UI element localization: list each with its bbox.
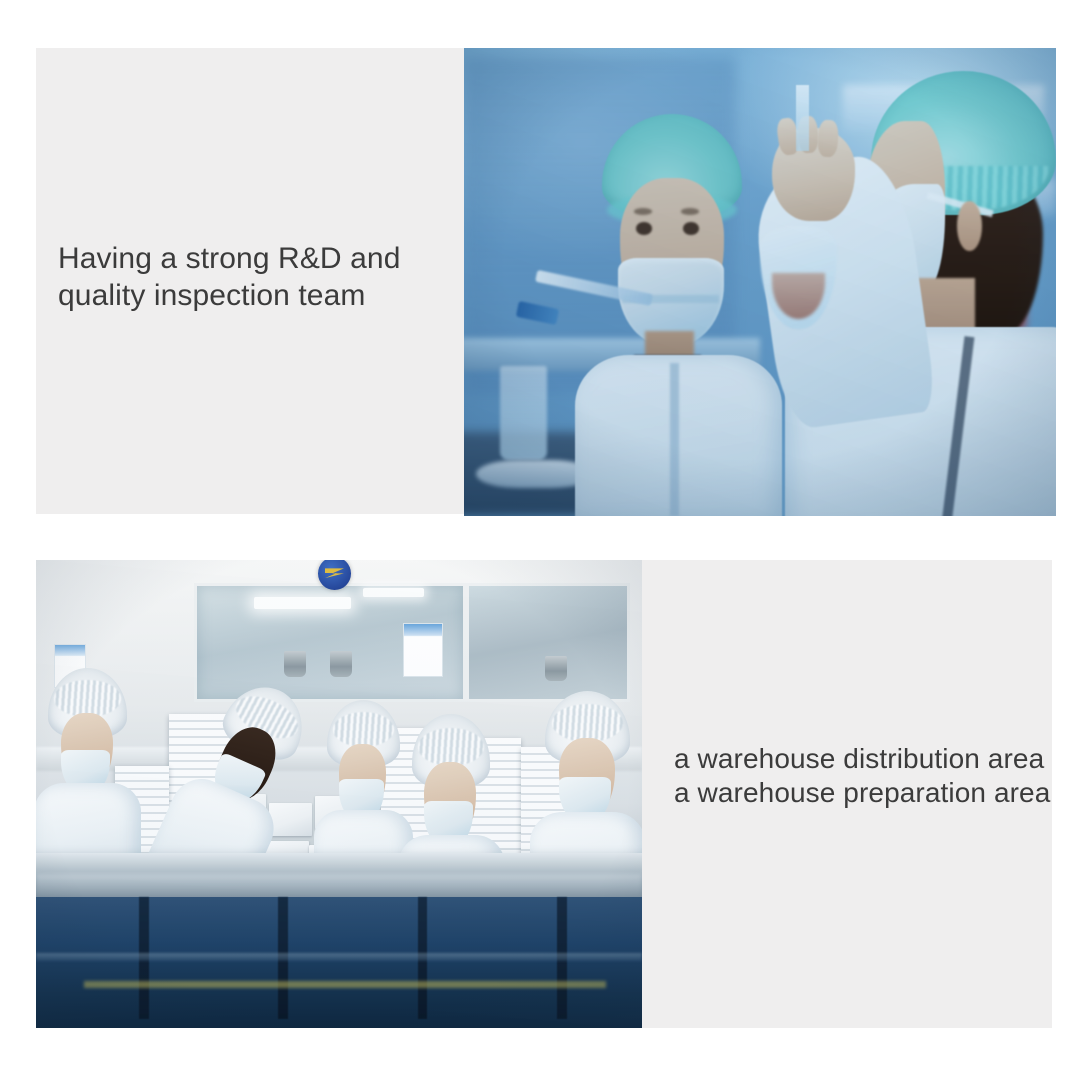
warehouse-packing-photo xyxy=(36,560,642,1028)
packing-scene xyxy=(36,560,642,1028)
top-caption-panel: Having a strong R&D and quality inspecti… xyxy=(36,48,464,514)
quality-inspection-photo xyxy=(464,48,1056,516)
top-caption-text: Having a strong R&D and quality inspecti… xyxy=(58,240,458,314)
bottom-caption-panel: a warehouse distribution area a warehous… xyxy=(642,560,1052,1028)
lab-vignette xyxy=(464,48,1056,516)
lab-scene xyxy=(464,48,1056,516)
bottom-section: a warehouse distribution area a warehous… xyxy=(36,560,1052,1028)
packing-vignette xyxy=(36,560,642,1028)
top-section: Having a strong R&D and quality inspecti… xyxy=(36,48,1056,516)
bottom-caption-text: a warehouse distribution area a warehous… xyxy=(674,742,1054,810)
poster-canvas: Having a strong R&D and quality inspecti… xyxy=(0,0,1080,1080)
